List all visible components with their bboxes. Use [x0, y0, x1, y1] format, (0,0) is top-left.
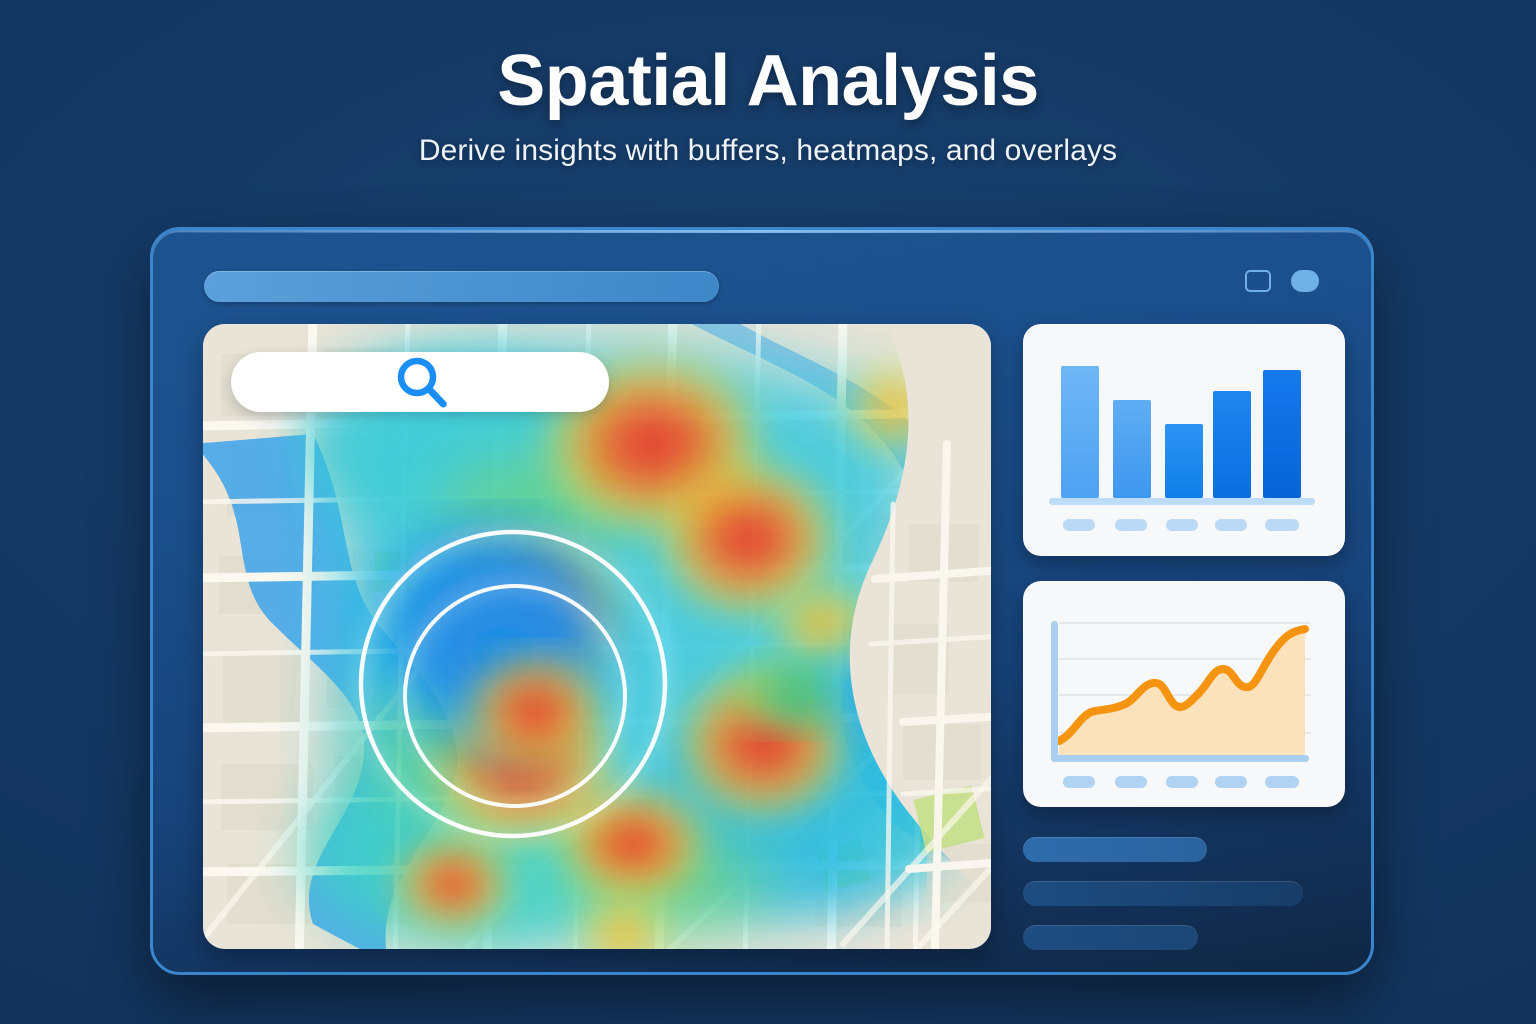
page-subtitle: Derive insights with buffers, heatmaps, … — [0, 134, 1536, 168]
window-titlebar — [153, 230, 1371, 324]
search-icon — [253, 352, 591, 412]
bar-chart-axis — [1049, 498, 1315, 505]
bar-5 — [1263, 370, 1301, 498]
page-header: Spatial Analysis Derive insights with bu… — [0, 0, 1536, 168]
area-chart-x-axis — [1051, 755, 1309, 762]
bar-3 — [1165, 424, 1203, 498]
window-content — [203, 324, 1339, 942]
address-bar[interactable] — [204, 271, 719, 302]
bar-2 — [1113, 400, 1151, 498]
close-window-icon[interactable] — [1291, 270, 1319, 292]
map-graphic — [203, 324, 991, 949]
page-title: Spatial Analysis — [0, 44, 1536, 120]
bar-chart-tick-labels — [1063, 519, 1299, 531]
trend-line-chart-card[interactable] — [1023, 581, 1345, 807]
area-chart-y-axis — [1051, 621, 1058, 761]
skeleton-row-2 — [1023, 881, 1303, 906]
skeleton-text-block — [1023, 837, 1345, 950]
window-controls — [1245, 270, 1319, 292]
bar-chart-graphic — [1023, 324, 1345, 556]
skeleton-row-1 — [1023, 837, 1207, 862]
restore-window-icon[interactable] — [1245, 270, 1271, 292]
bar-4 — [1213, 391, 1251, 498]
app-window — [150, 227, 1374, 975]
map-search-bar[interactable] — [231, 352, 609, 412]
area-chart-graphic — [1023, 581, 1345, 807]
sidebar-panels — [1023, 324, 1345, 969]
bar-1 — [1061, 366, 1099, 498]
heatmap-map-canvas[interactable] — [203, 324, 991, 949]
skeleton-row-3 — [1023, 925, 1198, 950]
area-chart-fill — [1059, 629, 1305, 757]
bar-chart-card[interactable] — [1023, 324, 1345, 556]
area-chart-tick-labels — [1063, 776, 1299, 788]
